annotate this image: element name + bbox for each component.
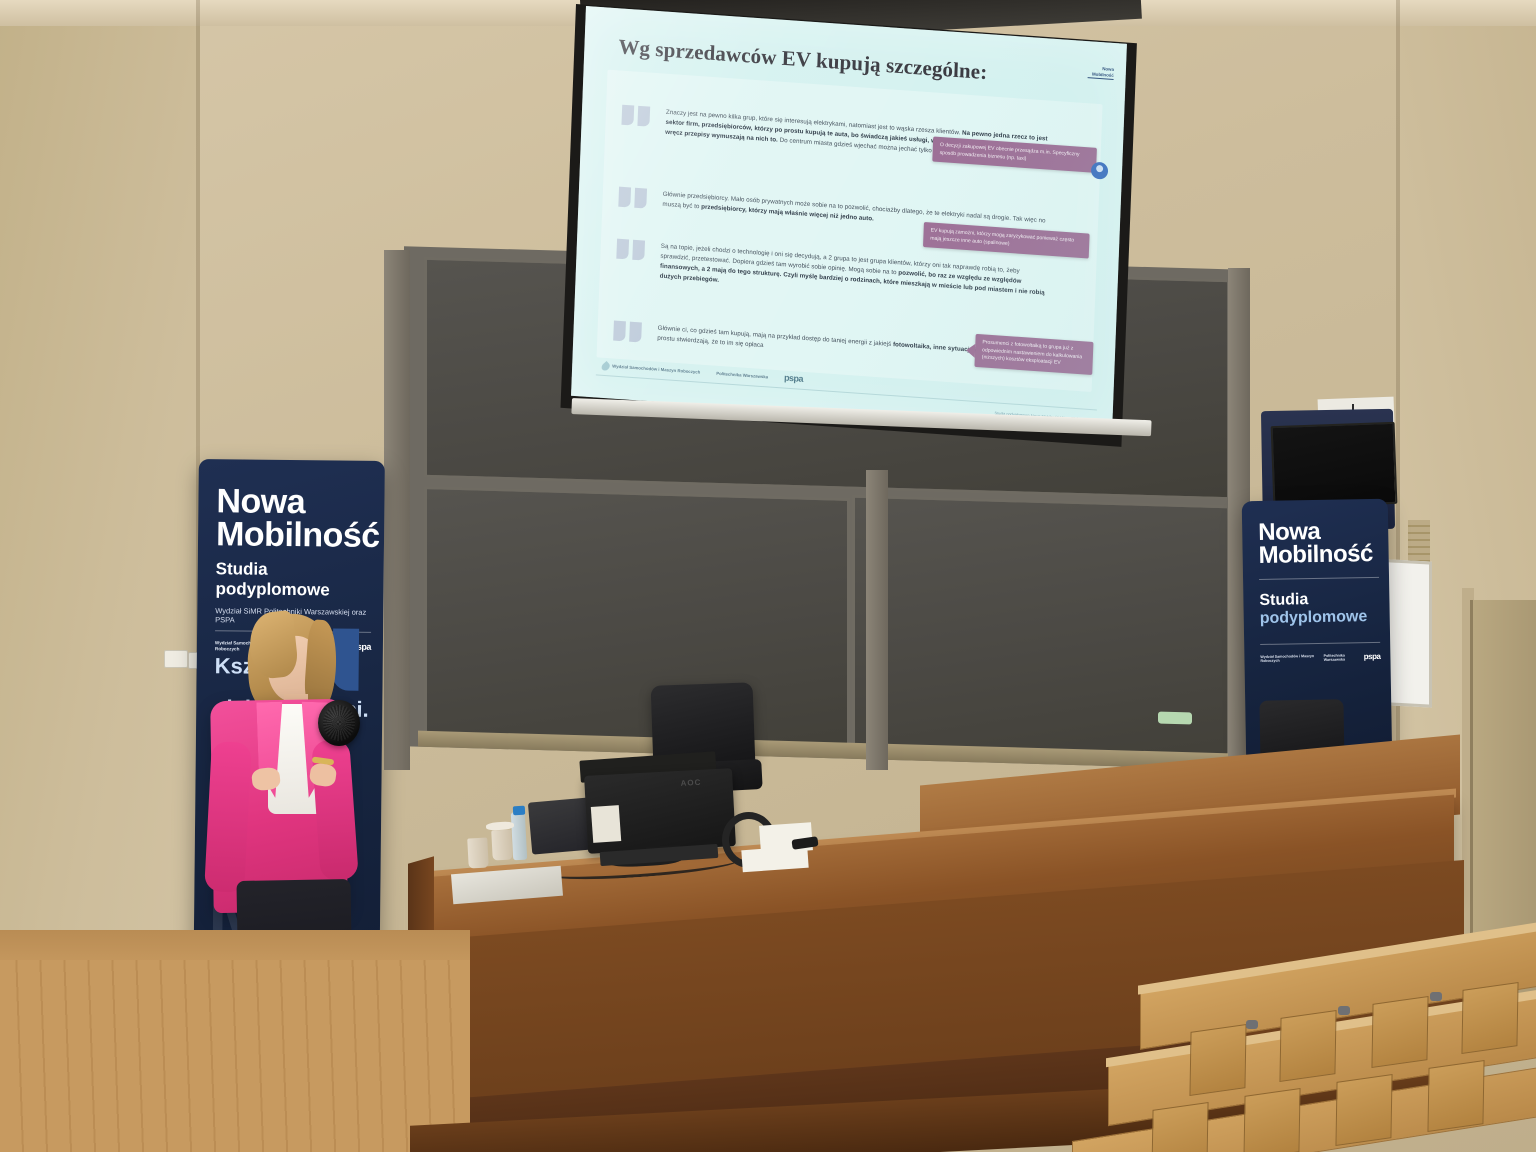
banner-right-logos: Wydział Samochodów i Maszyn Roboczych Po… <box>1260 652 1380 664</box>
banner-left-graphic <box>332 628 359 690</box>
banner-right-divider-2 <box>1260 642 1380 645</box>
seat-back-3[interactable] <box>1371 996 1428 1068</box>
paper-sheet-2[interactable] <box>741 846 808 873</box>
seat-back-6[interactable] <box>1243 1088 1300 1152</box>
seat-hinge-1 <box>1246 1020 1258 1029</box>
bottle-cap <box>513 806 525 816</box>
person-avatar-icon <box>1091 162 1109 180</box>
coffee-cup-2[interactable] <box>491 829 513 860</box>
seat-back-5[interactable] <box>1151 1102 1208 1152</box>
banner-right-logo-1: Wydział Samochodów i Maszyn Roboczych <box>1260 654 1316 664</box>
laptop[interactable] <box>528 797 594 854</box>
handheld-microphone[interactable] <box>318 700 360 746</box>
banner-right-subtitle-1: Studia <box>1259 590 1379 610</box>
monitor-brand-label: AOC <box>680 778 701 788</box>
lectern-monitor[interactable] <box>1271 422 1398 508</box>
logo-politechnika: Politechnika Warszawska <box>716 371 768 380</box>
presentation-slide: Wg sprzedawców EV kupują szczególne: Now… <box>571 6 1127 434</box>
banner-right-title-line2: Mobilność <box>1258 542 1378 567</box>
wooden-floor <box>0 960 470 1152</box>
microphone-mesh <box>323 705 355 741</box>
seat-back-1[interactable] <box>1189 1024 1246 1096</box>
banner-right-subtitle-2: podyplomowe <box>1260 608 1380 628</box>
seat-back-4[interactable] <box>1461 982 1518 1054</box>
quote-mark-icon <box>621 105 656 127</box>
coffee-cup-1[interactable] <box>467 837 489 868</box>
monitor-sticker <box>591 805 621 843</box>
lecture-hall-photo: Wg sprzedawców EV kupują szczególne: Now… <box>0 0 1536 1152</box>
seat-back-2[interactable] <box>1279 1010 1336 1082</box>
banner-right-logo-2: Politechnika Warszawska <box>1324 653 1357 662</box>
seat-hinge-3 <box>1430 992 1442 1001</box>
chalkboard-panel-left <box>424 486 850 754</box>
quote-mark-icon <box>613 321 648 343</box>
speaker-arm-left <box>204 741 252 893</box>
droplet-icon <box>600 361 611 372</box>
logo-pspa: pspa <box>784 373 803 386</box>
seat-back-8[interactable] <box>1427 1060 1484 1132</box>
left-wall <box>0 0 200 1040</box>
banner-left-title-line1: Nowa <box>216 485 372 519</box>
banner-right-logo-3: pspa <box>1364 652 1381 662</box>
banner-right-divider <box>1259 577 1379 580</box>
quote-mark-icon <box>618 187 653 209</box>
seat-hinge-2 <box>1338 1006 1350 1015</box>
banner-left-title-line2: Mobilność <box>216 518 372 552</box>
quote-mark-icon <box>616 239 651 261</box>
board-post-middle <box>866 470 888 770</box>
power-socket[interactable] <box>164 650 188 668</box>
board-post-left <box>384 250 410 770</box>
slide-brand-logo: NowaMobilność <box>1088 65 1114 80</box>
chalkboard-eraser[interactable] <box>1158 712 1192 725</box>
banner-right-heading: Nowa Mobilność Studia podyplomowe Wydzia… <box>1258 519 1380 664</box>
banner-left-subtitle: Studia podyplomowe <box>215 559 371 601</box>
seat-back-7[interactable] <box>1335 1074 1392 1146</box>
water-bottle[interactable] <box>511 812 527 861</box>
